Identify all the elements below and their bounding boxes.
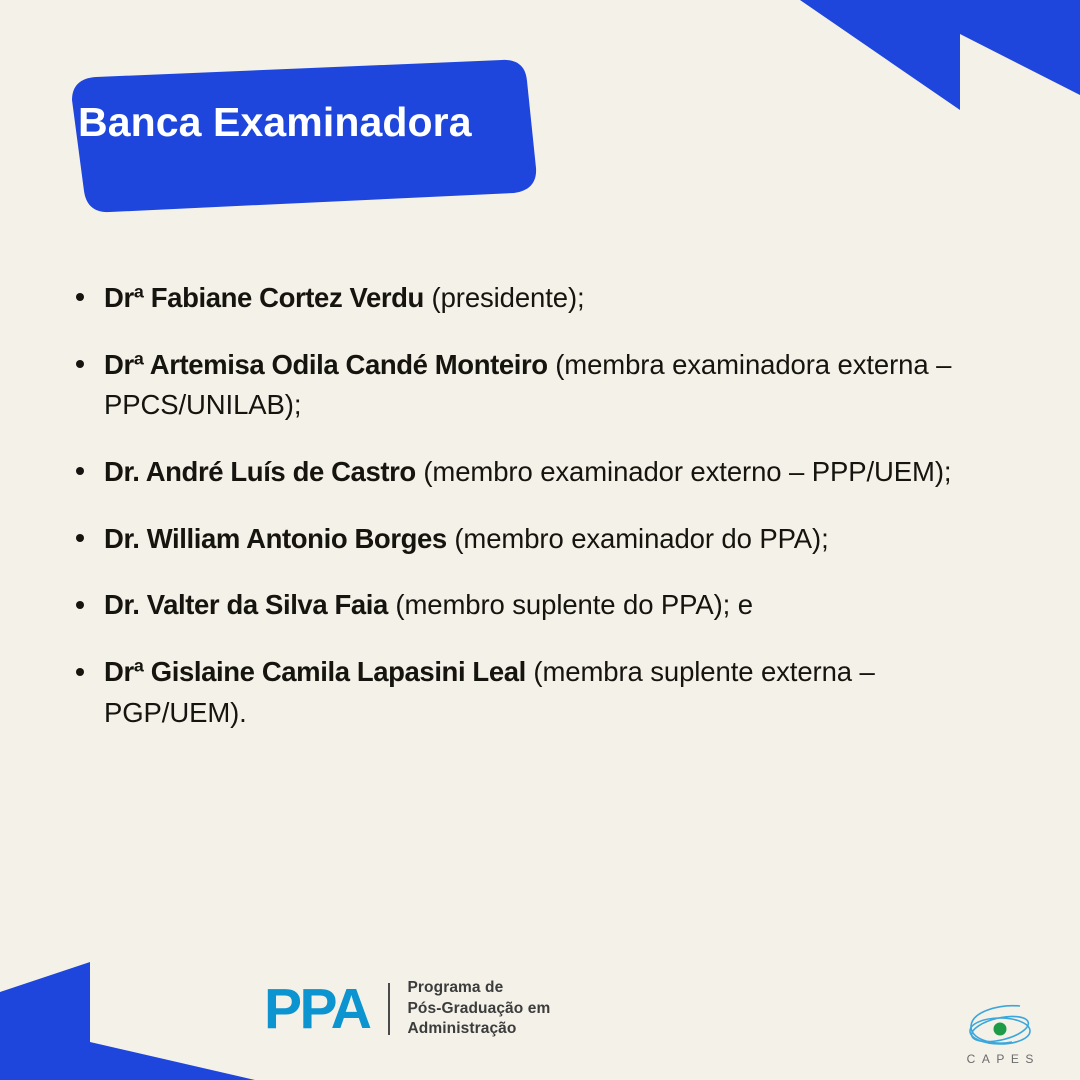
examining-board-list: Drª Fabiane Cortez Verdu (presidente); D… (68, 278, 1018, 734)
bullet-icon (76, 668, 84, 676)
bullet-icon (76, 534, 84, 542)
list-item: Dr. André Luís de Castro (membro examina… (68, 452, 1018, 493)
member-role: (membro examinador do PPA); (447, 523, 829, 554)
capes-logo: CAPES (946, 996, 1054, 1066)
capes-orbit-icon (946, 996, 1054, 1054)
member-name: Dr. André Luís de Castro (104, 456, 416, 487)
member-role: (presidente); (424, 282, 585, 313)
bullet-icon (76, 467, 84, 475)
logo-divider (388, 983, 390, 1035)
capes-center-dot-icon (994, 1023, 1007, 1036)
list-item: Drª Gislaine Camila Lapasini Leal (membr… (68, 652, 1018, 733)
ppa-subtitle-line-3: Administração (407, 1019, 550, 1039)
list-item: Drª Fabiane Cortez Verdu (presidente); (68, 278, 1018, 319)
ppa-subtitle: Programa de Pós-Graduação em Administraç… (407, 978, 550, 1039)
member-name: Drª Fabiane Cortez Verdu (104, 282, 424, 313)
member-name: Drª Artemisa Odila Candé Monteiro (104, 349, 548, 380)
list-item: Dr. William Antonio Borges (membro exami… (68, 519, 1018, 560)
bullet-icon (76, 601, 84, 609)
member-role: (membro examinador externo – PPP/UEM); (416, 456, 952, 487)
decoration-top-right-chevron-icon (760, 0, 1080, 130)
bullet-icon (76, 360, 84, 368)
title-banner: Banca Examinadora (44, 56, 540, 214)
member-name: Dr. Valter da Silva Faia (104, 589, 388, 620)
ppa-subtitle-line-2: Pós-Graduação em (407, 999, 550, 1019)
slide-canvas: Banca Examinadora Drª Fabiane Cortez Ver… (0, 0, 1080, 1080)
ppa-wordmark: PPA (264, 981, 369, 1038)
list-item: Drª Artemisa Odila Candé Monteiro (membr… (68, 345, 1018, 426)
member-name: Drª Gislaine Camila Lapasini Leal (104, 656, 526, 687)
list-item: Dr. Valter da Silva Faia (membro suplent… (68, 585, 1018, 626)
capes-wordmark: CAPES (946, 1052, 1054, 1066)
page-title: Banca Examinadora (78, 100, 472, 145)
decoration-bottom-left-chevron-icon (0, 960, 290, 1080)
member-name: Dr. William Antonio Borges (104, 523, 447, 554)
bullet-icon (76, 293, 84, 301)
member-role: (membro suplente do PPA); e (388, 589, 753, 620)
ppa-subtitle-line-1: Programa de (407, 978, 550, 998)
ppa-logo: PPA Programa de Pós-Graduação em Adminis… (264, 978, 550, 1040)
